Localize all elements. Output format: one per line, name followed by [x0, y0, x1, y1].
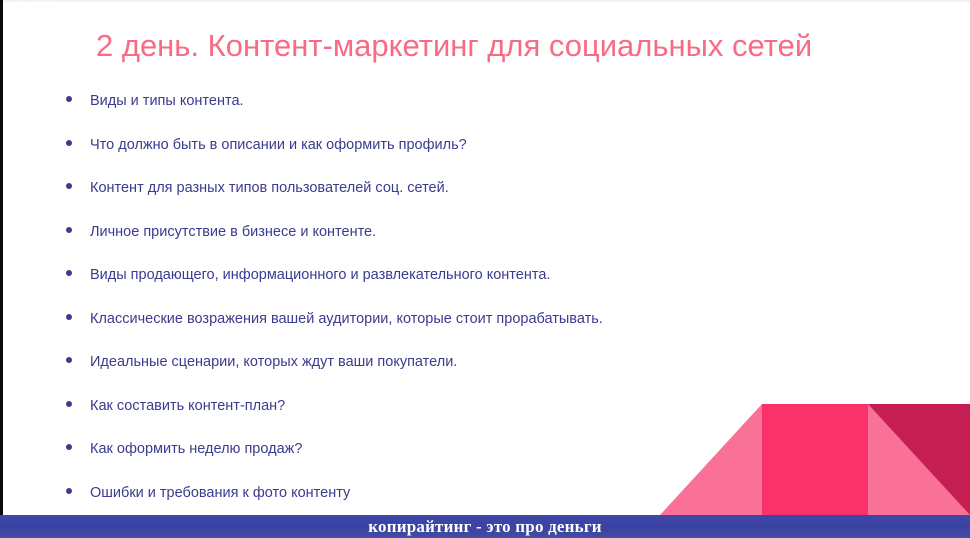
list-item-label: Виды продающего, информационного и развл… — [90, 262, 550, 288]
faint-watermark: · · · · — [22, 1, 58, 12]
bullet-dot-icon — [66, 401, 72, 407]
banner-tagline: копирайтинг - это про деньги — [368, 515, 602, 538]
bullet-dot-icon — [66, 140, 72, 146]
list-item-label: Идеальные сценарии, которых ждут ваши по… — [90, 349, 457, 375]
bullet-dot-icon — [66, 96, 72, 102]
slide-top-edge — [0, 0, 970, 2]
banner-content: копирайтинг - это про деньги — [0, 515, 970, 538]
list-item-label: Классические возражения вашей аудитории,… — [90, 306, 603, 332]
list-item-label: Ошибки и требования к фото контенту — [90, 480, 350, 506]
bullet-dot-icon — [66, 227, 72, 233]
list-item: Виды и типы контента. — [63, 88, 893, 132]
list-item: Контент для разных типов пользователей с… — [63, 175, 893, 219]
list-item: Что должно быть в описании и как оформит… — [63, 132, 893, 176]
list-item: Идеальные сценарии, которых ждут ваши по… — [63, 349, 893, 393]
list-item-label: Виды и типы контента. — [90, 88, 244, 114]
bullet-dot-icon — [66, 488, 72, 494]
list-item-label: Контент для разных типов пользователей с… — [90, 175, 449, 201]
slide-left-edge — [0, 0, 3, 538]
bullet-dot-icon — [66, 357, 72, 363]
left-pink-triangle — [660, 404, 762, 515]
bullet-dot-icon — [66, 183, 72, 189]
bullet-dot-icon — [66, 444, 72, 450]
bullet-dot-icon — [66, 314, 72, 320]
list-item-label: Как составить контент-план? — [90, 393, 285, 419]
pink-triangles-graphic — [655, 396, 970, 515]
list-item-label: Личное присутствие в бизнесе и контенте. — [90, 219, 376, 245]
list-item: Личное присутствие в бизнесе и контенте. — [63, 219, 893, 263]
page-title: 2 день. Контент-маркетинг для социальных… — [96, 26, 896, 66]
list-item: Классические возражения вашей аудитории,… — [63, 306, 893, 350]
presentation-slide: · · · · 2 день. Контент-маркетинг для со… — [0, 0, 970, 538]
bullet-dot-icon — [66, 270, 72, 276]
center-pink-block — [762, 404, 868, 515]
list-item-label: Что должно быть в описании и как оформит… — [90, 132, 467, 158]
list-item-label: Как оформить неделю продаж? — [90, 436, 302, 462]
list-item: Виды продающего, информационного и развл… — [63, 262, 893, 306]
bottom-banner: копирайтинг - это про деньги — [0, 515, 970, 538]
